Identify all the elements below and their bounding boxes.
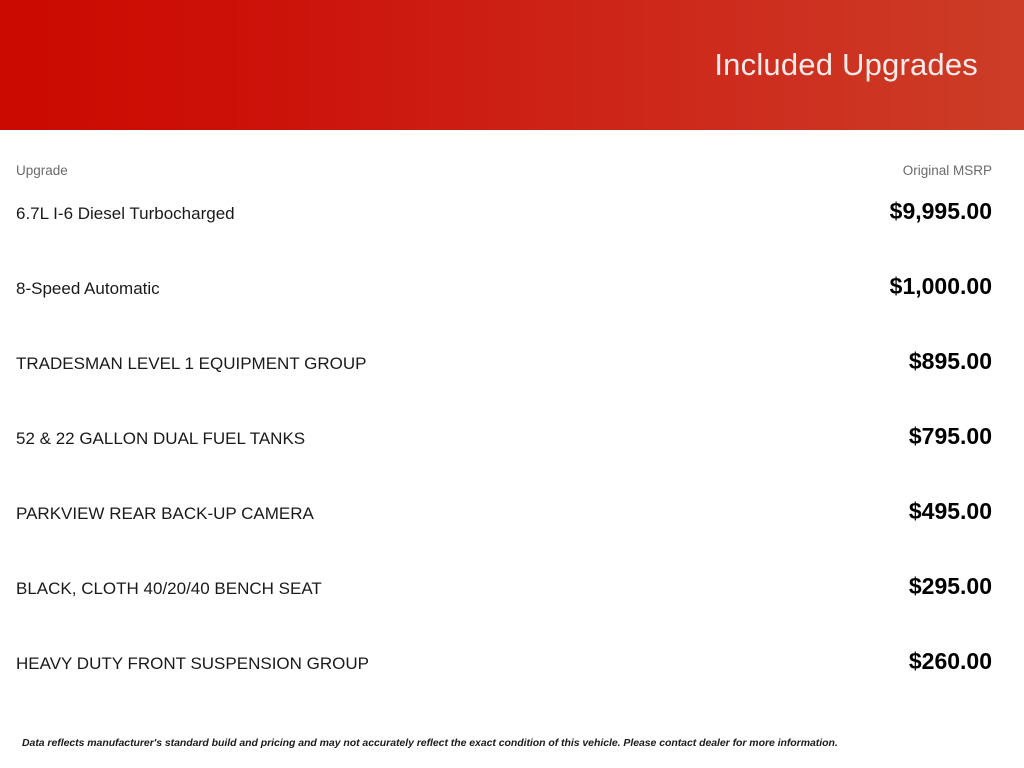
upgrade-price: $895.00	[909, 334, 992, 375]
table-row: PARKVIEW REAR BACK-UP CAMERA $495.00	[16, 484, 992, 559]
table-row: 8-Speed Automatic $1,000.00	[16, 259, 992, 334]
upgrade-name: 52 & 22 GALLON DUAL FUEL TANKS	[16, 416, 909, 449]
page-title: Included Upgrades	[714, 47, 1024, 83]
upgrade-price: $9,995.00	[890, 184, 992, 225]
table-column-headers: Upgrade Original MSRP	[16, 130, 992, 178]
column-header-original-msrp: Original MSRP	[903, 163, 992, 178]
upgrade-name: 8-Speed Automatic	[16, 266, 890, 299]
disclaimer-text: Data reflects manufacturer's standard bu…	[22, 737, 1000, 750]
column-header-upgrade: Upgrade	[16, 163, 903, 178]
upgrade-price: $295.00	[909, 559, 992, 600]
upgrade-name: BLACK, CLOTH 40/20/40 BENCH SEAT	[16, 566, 909, 599]
table-row: BLACK, CLOTH 40/20/40 BENCH SEAT $295.00	[16, 559, 992, 634]
upgrades-row-list: 6.7L I-6 Diesel Turbocharged $9,995.00 8…	[16, 184, 992, 709]
table-row: 52 & 22 GALLON DUAL FUEL TANKS $795.00	[16, 409, 992, 484]
upgrades-table: Upgrade Original MSRP 6.7L I-6 Diesel Tu…	[0, 130, 1024, 735]
table-row: 6.7L I-6 Diesel Turbocharged $9,995.00	[16, 184, 992, 259]
table-row: HEAVY DUTY FRONT SUSPENSION GROUP $260.0…	[16, 634, 992, 709]
upgrade-price: $1,000.00	[890, 259, 992, 300]
upgrade-name: PARKVIEW REAR BACK-UP CAMERA	[16, 491, 909, 524]
upgrade-price: $495.00	[909, 484, 992, 525]
upgrade-price: $260.00	[909, 634, 992, 675]
upgrade-name: TRADESMAN LEVEL 1 EQUIPMENT GROUP	[16, 341, 909, 374]
upgrade-name: HEAVY DUTY FRONT SUSPENSION GROUP	[16, 641, 909, 674]
page-header-banner: Included Upgrades	[0, 0, 1024, 130]
footer: Data reflects manufacturer's standard bu…	[0, 735, 1024, 768]
upgrade-price: $795.00	[909, 409, 992, 450]
table-row: TRADESMAN LEVEL 1 EQUIPMENT GROUP $895.0…	[16, 334, 992, 409]
included-upgrades-page: Included Upgrades Upgrade Original MSRP …	[0, 0, 1024, 768]
upgrade-name: 6.7L I-6 Diesel Turbocharged	[16, 191, 890, 224]
